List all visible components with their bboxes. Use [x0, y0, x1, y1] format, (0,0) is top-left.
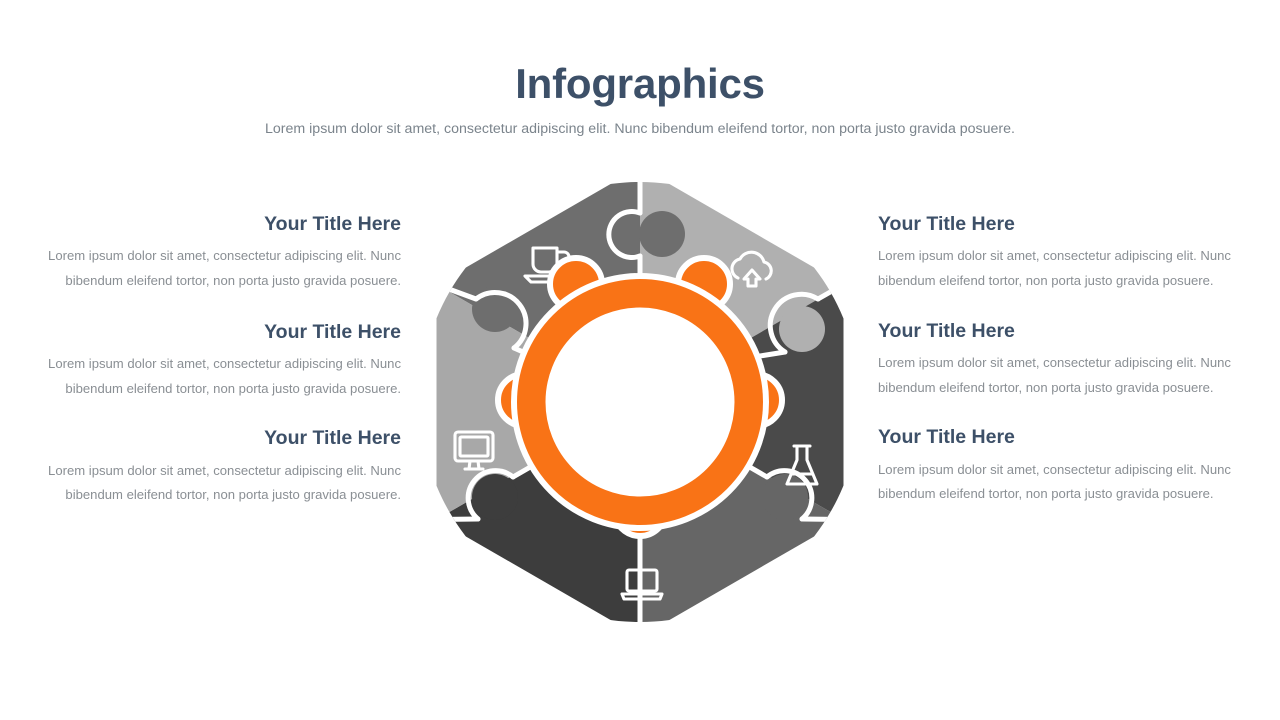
info-block-title: Your Title Here	[33, 213, 401, 236]
info-block-body: Lorem ipsum dolor sit amet, consectetur …	[878, 244, 1246, 293]
puzzle-wheel-diagram	[410, 172, 870, 632]
info-block-title: Your Title Here	[878, 320, 1246, 343]
info-block-title: Your Title Here	[878, 426, 1246, 449]
info-block-left-3: Your Title Here Lorem ipsum dolor sit am…	[33, 427, 401, 508]
header: Infographics Lorem ipsum dolor sit amet,…	[0, 0, 1280, 139]
page-subtitle: Lorem ipsum dolor sit amet, consectetur …	[0, 106, 1280, 138]
puzzle-tab-lower-left	[472, 474, 518, 520]
info-block-body: Lorem ipsum dolor sit amet, consectetur …	[33, 459, 401, 508]
info-block-title: Your Title Here	[33, 427, 401, 450]
info-block-body: Lorem ipsum dolor sit amet, consectetur …	[878, 351, 1246, 400]
puzzle-tab-upper-right	[779, 306, 825, 352]
info-block-body: Lorem ipsum dolor sit amet, consectetur …	[33, 352, 401, 401]
puzzle-tab-top	[639, 211, 685, 257]
info-block-title: Your Title Here	[33, 321, 401, 344]
right-text-column: Your Title Here Lorem ipsum dolor sit am…	[878, 213, 1246, 533]
puzzle-tab-lower-right	[762, 474, 808, 520]
page-title: Infographics	[0, 0, 1280, 106]
info-block-body: Lorem ipsum dolor sit amet, consectetur …	[878, 458, 1246, 507]
info-block-right-3: Your Title Here Lorem ipsum dolor sit am…	[878, 426, 1246, 507]
left-text-column: Your Title Here Lorem ipsum dolor sit am…	[33, 213, 401, 534]
info-block-left-2: Your Title Here Lorem ipsum dolor sit am…	[33, 321, 401, 402]
info-block-title: Your Title Here	[878, 213, 1246, 236]
info-block-right-2: Your Title Here Lorem ipsum dolor sit am…	[878, 320, 1246, 401]
hub-center-hole	[548, 310, 732, 494]
info-block-right-1: Your Title Here Lorem ipsum dolor sit am…	[878, 213, 1246, 294]
info-block-body: Lorem ipsum dolor sit amet, consectetur …	[33, 244, 401, 293]
info-block-left-1: Your Title Here Lorem ipsum dolor sit am…	[33, 213, 401, 294]
